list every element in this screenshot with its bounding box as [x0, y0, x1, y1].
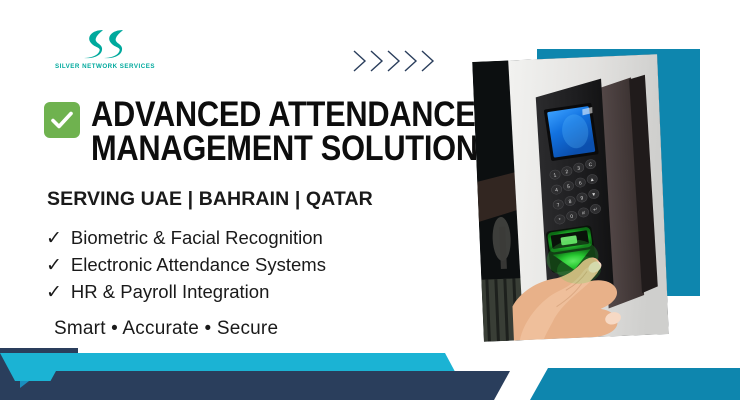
list-item: ✓ Electronic Attendance Systems [46, 251, 326, 278]
checkmark-icon: ✓ [46, 229, 62, 248]
checkmark-icon: ✓ [46, 256, 62, 275]
brand-wordmark: SILVER NETWORK SERVICES [40, 63, 170, 70]
silver-network-waves-icon [82, 28, 128, 60]
page-title: ADVANCED ATTENDANCE MANAGEMENT SOLUTIONS [91, 98, 498, 167]
biometric-terminal-image: 1 2 3 C 4 5 6 ▲ 7 8 9 ▼ * 0 # ↵ [472, 54, 669, 342]
list-item: ✓ HR & Payroll Integration [46, 278, 326, 305]
brand-logo: SILVER NETWORK SERVICES [40, 28, 170, 70]
chevron-arrows-icon [352, 48, 452, 74]
bottom-navy-bar [40, 371, 510, 400]
svg-text:▲: ▲ [589, 177, 595, 184]
feature-list: ✓ Biometric & Facial Recognition ✓ Elect… [46, 224, 326, 306]
checkmark-icon: ✓ [46, 283, 62, 302]
product-photo: 1 2 3 C 4 5 6 ▲ 7 8 9 ▼ * 0 # ↵ [472, 54, 669, 342]
bottom-teal-block [530, 368, 740, 400]
check-badge-icon [44, 102, 80, 138]
feature-label: HR & Payroll Integration [71, 278, 269, 305]
checkmark-glyph-icon [50, 110, 74, 130]
feature-label: Electronic Attendance Systems [71, 251, 326, 278]
feature-label: Biometric & Facial Recognition [71, 224, 323, 251]
promo-banner: SILVER NETWORK SERVICES ADVANCED ATTENDA… [0, 0, 740, 400]
svg-text:▼: ▼ [591, 192, 597, 199]
list-item: ✓ Biometric & Facial Recognition [46, 224, 326, 251]
tagline: Smart • Accurate • Secure [54, 318, 278, 340]
svg-text:↵: ↵ [593, 207, 598, 214]
subtitle-regions: SERVING UAE | BAHRAIN | QATAR [47, 188, 373, 211]
